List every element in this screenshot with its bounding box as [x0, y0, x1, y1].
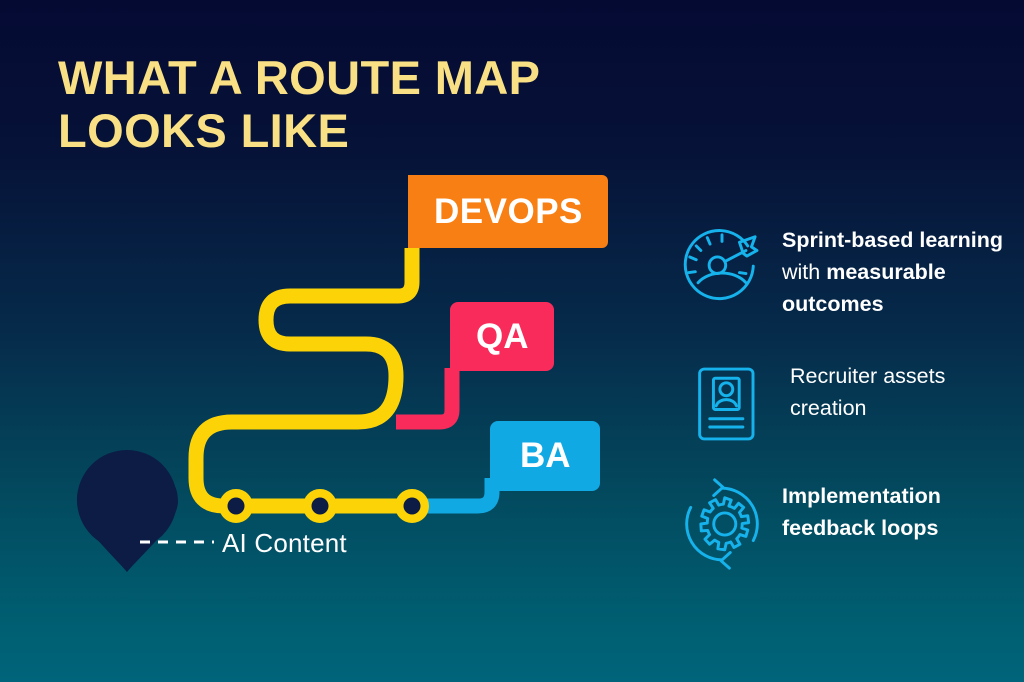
station-marker-core: [228, 498, 245, 515]
ai-content-label: AI Content: [222, 528, 347, 559]
feature-text: Sprint-based learning with measurable ou…: [782, 222, 1012, 320]
id-card-icon: [684, 358, 776, 450]
feature-item: Sprint-based learning with measurable ou…: [676, 222, 1012, 320]
feature-text-bold-lead: Sprint-based learning: [782, 228, 1003, 252]
feature-text-regular: Recruiter assets creation: [790, 364, 945, 420]
route-segment-pink: [396, 368, 452, 422]
badge-ba-label: BA: [520, 436, 571, 476]
feature-item: Implementation feedback loops: [676, 478, 1012, 570]
badge-devops[interactable]: DEVOPS: [408, 175, 608, 248]
feature-text: Implementation feedback loops: [782, 478, 1012, 544]
feature-item: Recruiter assets creation: [684, 358, 1014, 450]
map-pin-head: [77, 450, 177, 550]
route-path-yellow: [196, 248, 425, 506]
route-segment-cyan: [425, 478, 492, 506]
infographic-canvas: What a route map looks like DEVOPS QA: [0, 0, 1024, 682]
feature-text-regular: with: [782, 260, 826, 284]
station-marker-core: [312, 498, 329, 515]
speedometer-icon: [676, 222, 768, 314]
badge-ba[interactable]: BA: [490, 421, 600, 491]
station-marker-core: [404, 498, 421, 515]
feature-text-bold-lead: Implementation feedback loops: [782, 484, 941, 540]
badge-qa-label: QA: [476, 317, 529, 357]
gear-loop-icon: [676, 478, 768, 570]
badge-qa[interactable]: QA: [450, 302, 554, 371]
badge-devops-label: DEVOPS: [434, 192, 583, 232]
feature-text: Recruiter assets creation: [790, 358, 1014, 424]
